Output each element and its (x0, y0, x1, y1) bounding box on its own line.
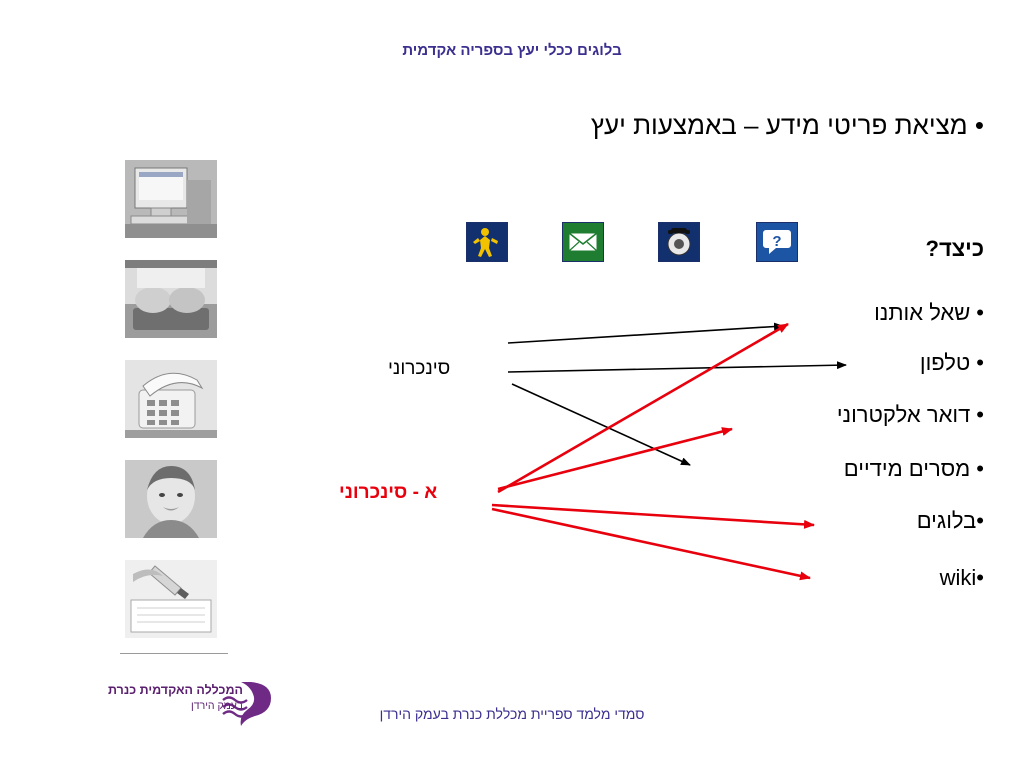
label-asynchronous: א - סינכרוני (339, 482, 437, 504)
photo-woman-smiling (125, 460, 217, 538)
channel-item-5: •wiki (940, 565, 984, 591)
logo-subtitle: בעמק הירדן (191, 700, 243, 712)
email-envelope-icon (562, 222, 604, 262)
svg-text:?: ? (772, 233, 781, 250)
photo-hands-typing (125, 260, 217, 338)
channel-item-2: •דואר אלקטרוני (837, 402, 984, 428)
channel-item-1: •טלפון (920, 350, 984, 376)
photo-strip (125, 160, 217, 660)
bullet-dot: • (976, 350, 984, 375)
arrow-async-to-blogs (492, 505, 814, 525)
bullet-dot: • (976, 300, 984, 325)
channel-label: בלוגים (917, 508, 977, 533)
photo-writing-notebook (125, 560, 217, 638)
bullet-dot: • (976, 456, 984, 481)
arrow-async-to-wiki (492, 509, 810, 578)
logo-name: המכללה האקדמית כנרת (108, 683, 243, 697)
bullet-dot: • (975, 110, 984, 140)
arrow-async-to-email (498, 429, 732, 489)
channel-label: דואר אלקטרוני (837, 402, 970, 427)
channel-label: טלפון (920, 350, 970, 375)
main-bullet-text: מציאת פריטי מידע – באמצעות יעץ (591, 110, 968, 140)
arrow-sync-to-phone (508, 365, 846, 372)
photo-computer-monitor (125, 160, 217, 238)
college-logo: המכללה האקדמית כנרת בעמק הירדן (55, 678, 287, 726)
arrow-async-to-ask (498, 324, 788, 492)
bullet-dot: • (976, 565, 984, 590)
how-label: כיצד? (926, 236, 984, 262)
slide-canvas: בלוגים ככלי יעץ בספריה אקדמית • מציאת פר… (0, 0, 1024, 768)
strip-divider (120, 653, 228, 654)
channel-item-3: •מסרים מידיים (844, 456, 984, 482)
bullet-dot: • (976, 508, 984, 533)
icons-row: ? (466, 222, 836, 264)
slide-title: בלוגים ככלי יעץ בספריה אקדמית (0, 42, 1024, 59)
arrow-sync-to-im (512, 384, 690, 465)
telephone-icon (658, 222, 700, 262)
channel-label: מסרים מידיים (844, 456, 971, 481)
arrow-sync-to-ask (508, 326, 783, 343)
label-synchronous: סינכרוני (388, 358, 450, 380)
channel-label: שאל אותנו (874, 300, 970, 325)
photo-telephone (125, 360, 217, 438)
channel-label: wiki (940, 565, 977, 590)
chat-bubble-icon: ? (756, 222, 798, 262)
channel-item-0: •שאל אותנו (874, 300, 984, 326)
bullet-dot: • (976, 402, 984, 427)
channel-item-4: •בלוגים (917, 508, 984, 534)
main-bullet: • מציאת פריטי מידע – באמצעות יעץ (324, 110, 984, 141)
yahoo-messenger-icon (466, 222, 508, 262)
